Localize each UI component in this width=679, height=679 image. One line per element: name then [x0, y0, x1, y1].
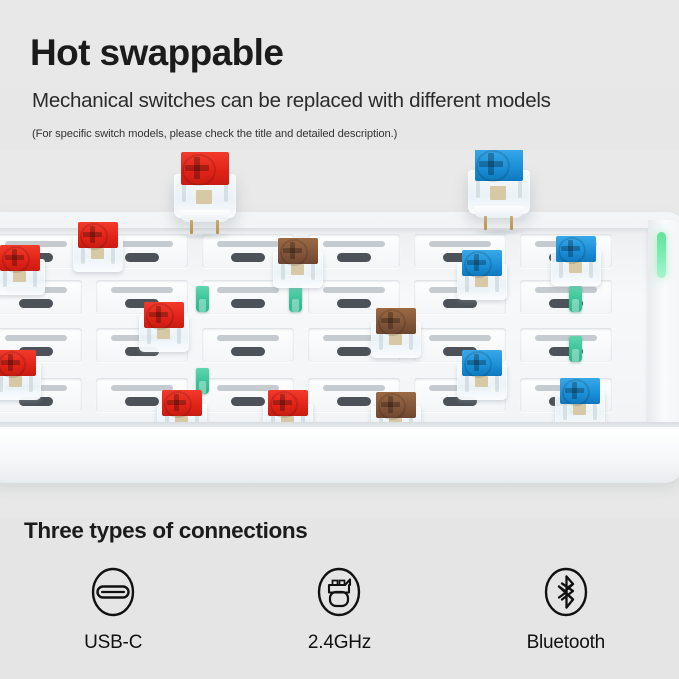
connection-label-usb-c: USB-C: [84, 632, 142, 654]
connection-item-24ghz: 2.4GHz: [226, 564, 452, 654]
connection-item-usb-c: USB-C: [0, 564, 226, 654]
switch-red: [0, 245, 46, 299]
switch-red: [72, 222, 124, 276]
page-subtitle: Mechanical switches can be replaced with…: [32, 89, 650, 113]
connection-label-bluetooth: Bluetooth: [527, 632, 606, 654]
keyboard-front-bezel: [0, 427, 679, 483]
switch-blue-floating: [466, 150, 532, 232]
stabilizer-clip: [196, 286, 209, 312]
keyboard-photo: [0, 150, 679, 518]
switch-red-floating: [172, 152, 238, 236]
product-infographic: Hot swappable Mechanical switches can be…: [0, 0, 679, 679]
connection-label-24ghz: 2.4GHz: [308, 632, 371, 654]
switch-brown: [370, 308, 422, 362]
led-indicator: [657, 232, 666, 278]
page-title: Hot swappable: [30, 34, 650, 73]
switch-brown: [272, 238, 324, 292]
header-block: Hot swappable Mechanical switches can be…: [30, 34, 650, 140]
bluetooth-icon: [538, 564, 594, 620]
switch-blue: [456, 350, 508, 404]
switch-red: [0, 350, 42, 404]
usb-c-icon: [85, 564, 141, 620]
switch-blue: [456, 250, 508, 304]
connection-item-bluetooth: Bluetooth: [453, 564, 679, 654]
connections-heading: Three types of connections: [24, 518, 307, 544]
key-socket: [520, 328, 612, 362]
stabilizer-clip: [569, 336, 582, 362]
page-note: (For specific switch models, please chec…: [32, 128, 650, 140]
switch-red: [138, 302, 190, 356]
connections-section: Three types of connections USB-C: [0, 518, 679, 679]
key-socket: [202, 328, 294, 362]
usb-dongle-icon: [311, 564, 367, 620]
connections-row: USB-C 2.4GHz Bluetooth: [0, 564, 679, 654]
switch-blue: [550, 236, 602, 290]
